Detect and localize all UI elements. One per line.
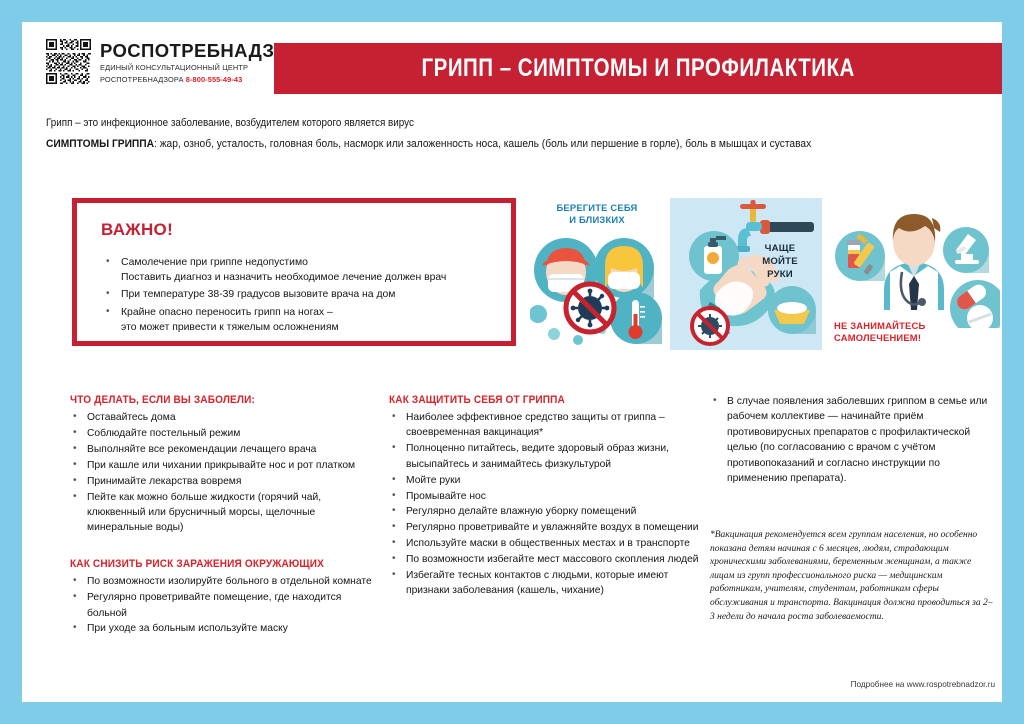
list-item: Наиболее эффективное средство защиты от …	[389, 410, 699, 441]
logo-text-block: РОСПОТРЕБНАДЗОР ЕДИНЫЙ КОНСУЛЬТАЦИОННЫЙ …	[100, 39, 302, 84]
panel2-caption: ЧАЩЕ МОЙТЕ РУКИ	[746, 242, 814, 281]
intro-definition: Грипп – это инфекционное заболевание, во…	[46, 116, 920, 132]
panel2-caption-line1: ЧАЩЕ МОЙТЕ	[762, 243, 798, 267]
organization-name: РОСПОТРЕБНАДЗОР	[100, 40, 302, 61]
list-item: По возможности изолируйте больного в отд…	[70, 574, 375, 589]
panel3-caption: НЕ ЗАНИМАЙТЕСЬ САМОЛЕЧЕНИЕМ!	[834, 320, 952, 344]
title-banner: ГРИПП – СИМПТОМЫ И ПРОФИЛАКТИКА	[274, 43, 1002, 94]
panel3-caption-line2: САМОЛЕЧЕНИЕМ!	[834, 332, 921, 343]
panel1-caption-line2: И БЛИЗКИХ	[569, 214, 625, 225]
poster-header: РОСПОТРЕБНАДЗОР ЕДИНЫЙ КОНСУЛЬТАЦИОННЫЙ …	[22, 22, 1002, 94]
list-item: Оставайтесь дома	[70, 410, 375, 425]
illustration-panel-no-self-medication: НЕ ЗАНИМАЙТЕСЬ САМОЛЕЧЕНИЕМ!	[828, 194, 1000, 359]
list-item: Промывайте нос	[389, 489, 699, 504]
panel3-graphic	[828, 198, 1000, 328]
intro-block: Грипп – это инфекционное заболевание, во…	[46, 116, 986, 152]
list-item: При уходе за больным используйте маску	[70, 621, 375, 636]
illustration-panel-wash-hands: ЧАЩЕ МОЙТЕ РУКИ	[670, 198, 822, 350]
section-title-if-you-are-sick: ЧТО ДЕЛАТЬ, ЕСЛИ ВЫ ЗАБОЛЕЛИ:	[70, 394, 360, 406]
panel1-caption-line1: БЕРЕГИТЕ СЕБЯ	[556, 202, 637, 213]
list-item: Мойте руки	[389, 473, 699, 488]
list-item: Пейте как можно больше жидкости (горячий…	[70, 490, 375, 536]
column-right: В случае появления заболевших гриппом в …	[710, 394, 995, 634]
list-item: Используйте маски в общественных местах …	[389, 536, 699, 551]
panel1-caption: БЕРЕГИТЕ СЕБЯ И БЛИЗКИХ	[536, 202, 658, 226]
column-left: ЧТО ДЕЛАТЬ, ЕСЛИ ВЫ ЗАБОЛЕЛИ: Оставайтес…	[70, 394, 375, 637]
consulting-center-line2: РОСПОТРЕБНАДЗОРА 8-800-555-49-43	[100, 75, 302, 85]
section-title-reduce-risk: КАК СНИЗИТЬ РИСК ЗАРАЖЕНИЯ ОКРУЖАЮЩИХ	[70, 558, 360, 570]
panel1-graphic	[530, 226, 670, 356]
list-item: Принимайте лекарства вовремя	[70, 474, 375, 489]
symptoms-label: СИМПТОМЫ ГРИППА	[46, 138, 154, 150]
important-item: Самолечение при гриппе недопустимо Поста…	[103, 255, 503, 285]
list-item: Регулярно проветривайте помещение, где н…	[70, 590, 375, 621]
important-item: Крайне опасно переносить грипп на ногах …	[103, 305, 503, 335]
if-you-are-sick-list: Оставайтесь дома Соблюдайте постельный р…	[70, 410, 375, 536]
important-box: ВАЖНО! Самолечение при гриппе недопустим…	[72, 198, 516, 346]
list-item: Соблюдайте постельный режим	[70, 426, 375, 441]
list-item: Выполняйте все рекомендации лечащего вра…	[70, 442, 375, 457]
intro-symptoms: СИМПТОМЫ ГРИППА: жар, озноб, усталость, …	[46, 137, 920, 153]
section-title-protect-yourself: КАК ЗАЩИТИТЬ СЕБЯ ОТ ГРИППА	[389, 394, 684, 406]
consulting-center-org: РОСПОТРЕБНАДЗОРА	[100, 75, 184, 84]
hotline-phone: 8-800-555-49-43	[186, 75, 243, 84]
consulting-center-line1: ЕДИНЫЙ КОНСУЛЬТАЦИОННЫЙ ЦЕНТР	[100, 63, 302, 73]
list-item: В случае появления заболевших гриппом в …	[710, 394, 995, 486]
list-item: Регулярно проветривайте и увлажняйте воз…	[389, 520, 699, 535]
panel3-caption-line1: НЕ ЗАНИМАЙТЕСЬ	[834, 320, 925, 331]
organization-logo: РОСПОТРЕБНАДЗОР ЕДИНЫЙ КОНСУЛЬТАЦИОННЫЙ …	[46, 39, 302, 84]
qr-code-icon	[46, 39, 91, 84]
important-item-text-cont: это может привести к тяжелым осложнениям	[121, 320, 503, 335]
list-item: При кашле или чихании прикрывайте нос и …	[70, 458, 375, 473]
important-list: Самолечение при гриппе недопустимо Поста…	[103, 255, 503, 337]
footer-website-link[interactable]: Подробнее на www.rospotrebnadzor.ru	[710, 680, 995, 689]
list-item: По возможности избегайте мест массового …	[389, 552, 699, 567]
panel2-caption-line2: РУКИ	[767, 269, 793, 280]
symptoms-text: : жар, озноб, усталость, головная боль, …	[154, 138, 811, 150]
important-title: ВАЖНО!	[101, 220, 173, 240]
column-middle: КАК ЗАЩИТИТЬ СЕБЯ ОТ ГРИППА Наиболее эфф…	[389, 394, 699, 599]
list-item: Полноценно питайтесь, ведите здоровый об…	[389, 441, 699, 472]
no-virus-icon	[566, 284, 614, 332]
important-item-text: Самолечение при гриппе недопустимо	[121, 257, 308, 268]
important-item-text: Крайне опасно переносить грипп на ногах …	[121, 307, 333, 318]
important-item-text-cont: Поставить диагноз и назначить необходимо…	[121, 270, 503, 285]
important-item: При температуре 38-39 градусов вызовите …	[103, 287, 503, 302]
illustration-panel-protect-yourself: БЕРЕГИТЕ СЕБЯ И БЛИЗКИХ	[530, 194, 670, 359]
list-item: Регулярно делайте влажную уборку помещен…	[389, 504, 699, 519]
outbreak-list: В случае появления заболевших гриппом в …	[710, 394, 995, 486]
list-item: Избегайте тесных контактов с людьми, кот…	[389, 568, 699, 599]
illustrations-block: БЕРЕГИТЕ СЕБЯ И БЛИЗКИХ	[530, 194, 1000, 359]
vaccination-footnote: *Вакцинация рекомендуется всем группам н…	[710, 529, 995, 624]
protect-yourself-list: Наиболее эффективное средство защиты от …	[389, 410, 699, 599]
reduce-risk-list: По возможности изолируйте больного в отд…	[70, 574, 375, 637]
poster-page: РОСПОТРЕБНАДЗОР ЕДИНЫЙ КОНСУЛЬТАЦИОННЫЙ …	[22, 22, 1002, 702]
page-title: ГРИПП – СИМПТОМЫ И ПРОФИЛАКТИКА	[421, 54, 854, 83]
no-virus-icon	[692, 308, 728, 344]
